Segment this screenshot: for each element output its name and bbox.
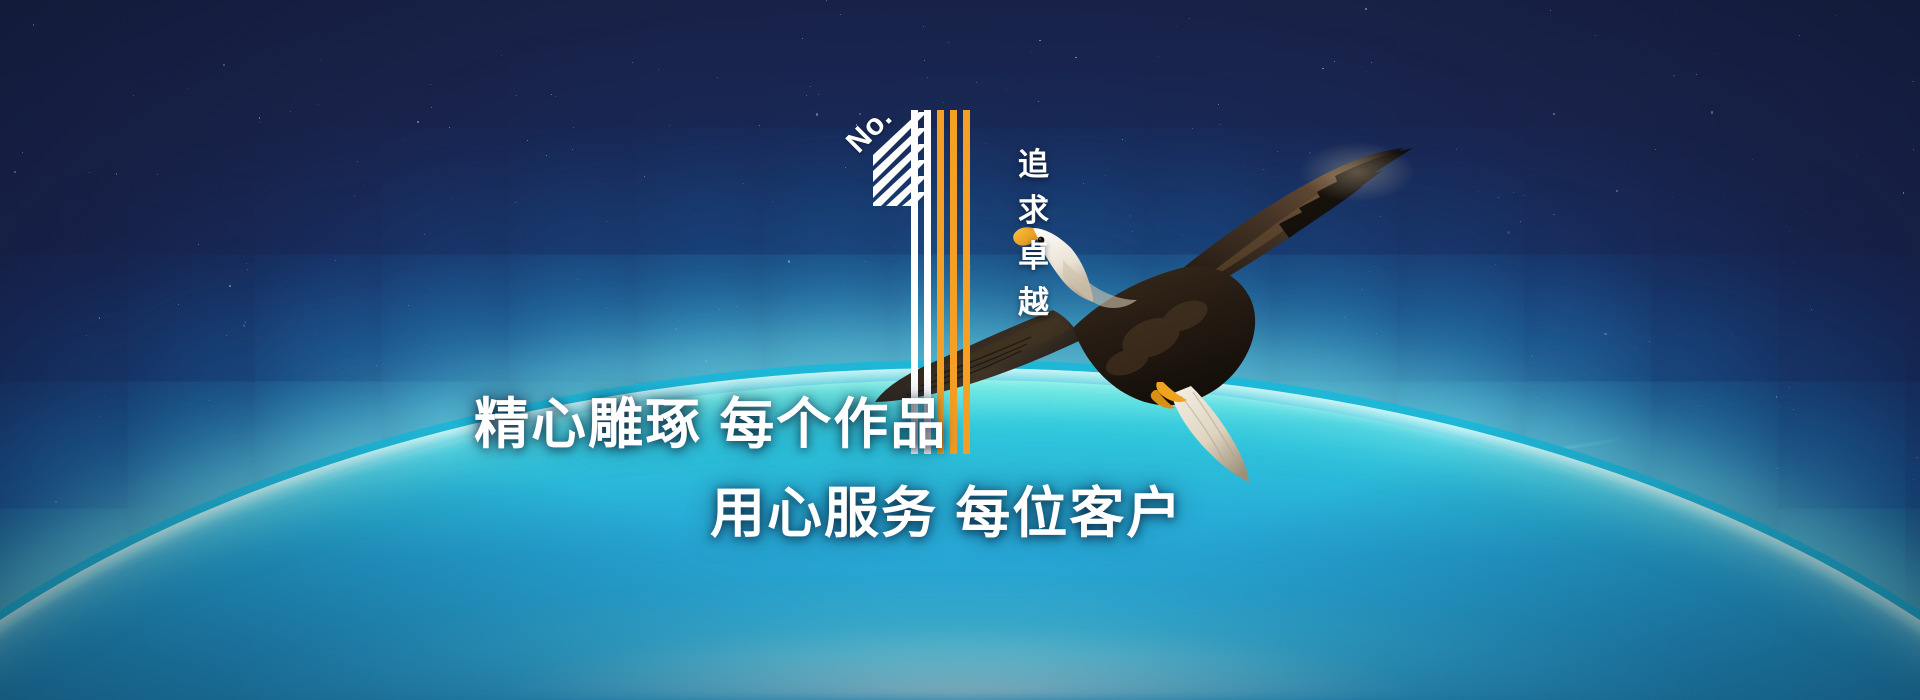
logo-stripe-3 — [937, 110, 944, 454]
no-one-logo: No. — [845, 108, 1035, 458]
logo-stripe-2 — [924, 110, 931, 454]
hero-banner: No. 追 求 卓 越 精心雕琢 每个作品 用心服务 每位客户 — [0, 0, 1920, 700]
logo-stripe-1 — [911, 110, 918, 454]
vertical-slogan-char-2: 求 — [1008, 188, 1060, 234]
logo-stripe-5 — [963, 110, 970, 454]
numeral-one-stripes — [911, 110, 975, 454]
vertical-slogan-char-4: 越 — [1008, 280, 1060, 326]
logo-stripe-4 — [950, 110, 957, 454]
vertical-slogan-char-1: 追 — [1008, 142, 1060, 188]
vertical-slogan: 追 求 卓 越 — [1008, 142, 1060, 326]
vertical-slogan-char-3: 卓 — [1008, 234, 1060, 280]
